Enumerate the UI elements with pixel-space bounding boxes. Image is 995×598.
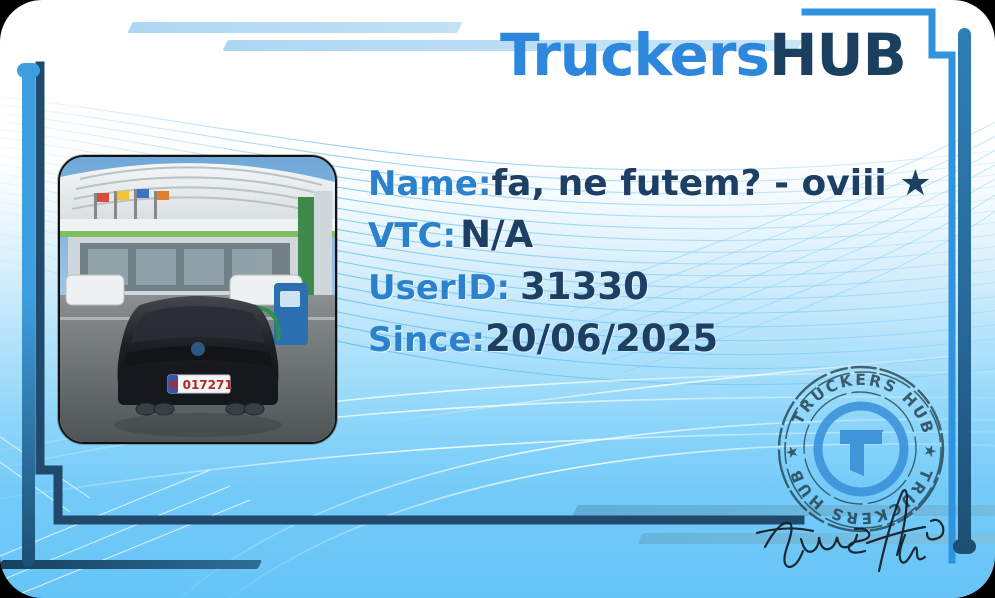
brand-logo-secondary: HUB [769,21,906,89]
field-value-vtc: N/A [460,213,533,256]
field-value-since: 20/06/2025 [485,317,718,360]
field-value-userid: 31330 [520,265,649,308]
field-row-name: Name: fa, ne futem? - oviii ★ [368,163,968,204]
field-row-vtc: VTC: N/A [368,213,968,256]
field-row-userid: UserID: 31330 [368,265,968,308]
signature [755,485,955,575]
truckershub-logo-mark [840,430,884,476]
field-label-since: Since: [368,320,485,360]
avatar-photo: B 017271 [60,157,335,442]
avatar-license-plate: B 017271 [169,378,232,392]
info-fields: Name: fa, ne futem? - oviii ★ VTC: N/A U… [368,163,968,360]
decor-pin-left [22,67,35,567]
brand-logo: TruckersHUB [500,26,906,84]
trucker-id-card: TruckersHUB [0,0,995,598]
decor-bar-top-1 [127,22,462,33]
field-value-name: fa, ne futem? - oviii ★ [491,163,931,204]
brand-logo-primary: Truckers [500,21,769,89]
field-row-since: Since: 20/06/2025 [368,317,968,360]
field-label-userid: UserID: [368,268,510,308]
decor-bar-bottom-1 [0,560,262,569]
field-label-name: Name: [368,164,491,204]
avatar: B 017271 [58,155,337,444]
field-label-vtc: VTC: [368,216,456,256]
